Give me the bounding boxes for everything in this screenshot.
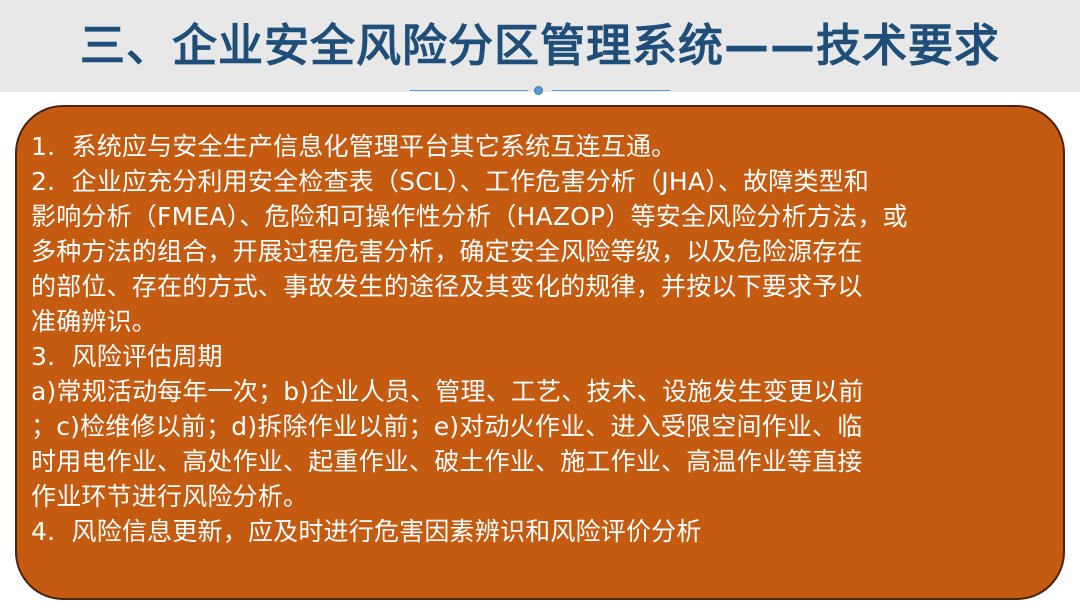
text-line: a)常规活动每年一次；b)企业人员、管理、工艺、技术、设施发生变更以前 [31, 374, 1049, 409]
requirements-text-block: 1. 系统应与安全生产信息化管理平台其它系统互连互通。 2. 企业应充分利用安全… [31, 129, 1049, 549]
title-decorative-underline [410, 86, 670, 96]
underline-segment-left [410, 90, 528, 91]
presentation-slide: 三、企业安全风险分区管理系统——技术要求 1. 系统应与安全生产信息化管理平台其… [0, 0, 1080, 608]
text-line: 作业环节进行风险分析。 [31, 479, 1049, 514]
text-line: 3. 风险评估周期 [31, 339, 1049, 374]
text-line: 的部位、存在的方式、事故发生的途径及其变化的规律，并按以下要求予以 [31, 269, 1049, 304]
content-callout-box: 1. 系统应与安全生产信息化管理平台其它系统互连互通。 2. 企业应充分利用安全… [15, 105, 1065, 600]
page-title: 三、企业安全风险分区管理系统——技术要求 [0, 18, 1080, 74]
text-line: 影响分析（FMEA）、危险和可操作性分析（HAZOP）等安全风险分析方法，或 [31, 199, 1049, 234]
text-line: 2. 企业应充分利用安全检查表（SCL）、工作危害分析（JHA）、故障类型和 [31, 164, 1049, 199]
underline-center-dot [534, 86, 543, 95]
text-line: 1. 系统应与安全生产信息化管理平台其它系统互连互通。 [31, 129, 1049, 164]
text-line: ；c)检维修以前；d)拆除作业以前；e)对动火作业、进入受限空间作业、临 [31, 409, 1049, 444]
text-line: 时用电作业、高处作业、起重作业、破土作业、施工作业、高温作业等直接 [31, 444, 1049, 479]
text-line: 准确辨识。 [31, 304, 1049, 339]
slide-header-band: 三、企业安全风险分区管理系统——技术要求 [0, 0, 1080, 92]
underline-segment-right [552, 90, 670, 91]
text-line: 4. 风险信息更新，应及时进行危害因素辨识和风险评价分析 [31, 514, 1049, 549]
text-line: 多种方法的组合，开展过程危害分析，确定安全风险等级，以及危险源存在 [31, 234, 1049, 269]
